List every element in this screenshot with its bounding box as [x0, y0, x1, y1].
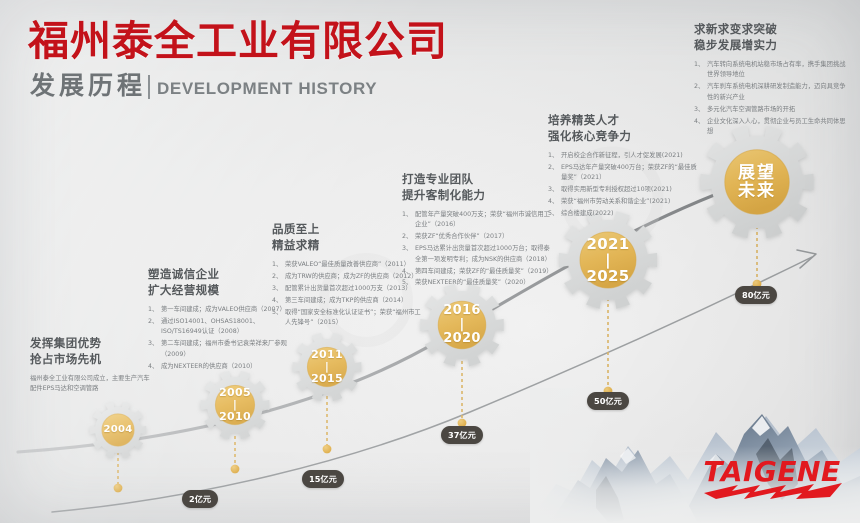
revenue-pill-m2021: 50亿元: [587, 392, 629, 410]
gear-m2004: [90, 402, 146, 458]
milestone-item: 取得实用新型专利授权超过10项(2021): [548, 185, 700, 195]
milestone-block-m2021: 培养精英人才 强化核心竞争力 开启校企合作新征程，引人才促发展(2021)EPS…: [548, 113, 700, 221]
subtitle-divider: [148, 75, 150, 99]
milestone-block-m2004: 发挥集团优势 抢占市场先机 福州泰全工业有限公司成立，主要生产汽车配件EPS马达…: [30, 336, 150, 395]
milestone-heading: 发挥集团优势 抢占市场先机: [30, 336, 150, 367]
revenue-pill-mfuture: 80亿元: [735, 286, 777, 304]
milestone-item: 配管累计出货量首次超过1000万支（2013）: [272, 284, 422, 294]
milestone-item: EPS马达累计出货量首次超过1000万台；取得泰全第一项发明专利；成为NSK的供…: [402, 244, 554, 265]
poster-header: 福州泰全工业有限公司 发展历程 DEVELOPMENT HISTORY: [28, 18, 448, 100]
milestone-item: 综合楼建成(2022): [548, 209, 700, 219]
milestone-item: 企业文化深入人心，贯彻企业与员工生命共同体思想: [694, 117, 846, 138]
milestone-item: 开启校企合作新征程，引人才促发展(2021): [548, 151, 700, 161]
milestone-heading: 塑造诚信企业 扩大经营规模: [148, 267, 288, 298]
milestone-item: 第一车间建成；成为VALEO供应商（2007）: [148, 305, 288, 315]
milestone-item: 汽车转向系统电机站稳市场占有率，携手集团挑战世界领导地位: [694, 60, 846, 81]
milestone-item: 荣获“福州市劳动关系和谐企业”(2021): [548, 197, 700, 207]
milestone-item-list: 第一车间建成；成为VALEO供应商（2007）通过ISO14001、OHSAS1…: [148, 305, 288, 372]
subtitle-en: DEVELOPMENT HISTORY: [157, 79, 377, 100]
milestone-item: 通过ISO14001、OHSAS18001、ISO/TS16949认证（2008…: [148, 317, 288, 338]
revenue-pill-m2011: 15亿元: [302, 470, 344, 488]
milestone-item-list: 汽车转向系统电机站稳市场占有率，携手集团挑战世界领导地位汽车刹车系统电机深耕研发…: [694, 60, 846, 137]
milestone-heading: 品质至上 精益求精: [272, 222, 422, 253]
milestone-item: 荣获ZF“优秀合作伙伴”（2017）: [402, 232, 554, 242]
milestone-item-list: 荣获VALEO“最佳质量改善供应商”（2011）成为TRW的供应商；成为ZF的供…: [272, 260, 422, 328]
milestone-item: 取得“国家安全标准化认证证书”；荣获“福州市工人先锋号”（2015）: [272, 308, 422, 329]
development-history-poster: 福州泰全工业有限公司 发展历程 DEVELOPMENT HISTORY: [0, 0, 860, 523]
milestone-item: 成为TRW的供应商；成为ZF的供应商（2012）: [272, 272, 422, 282]
milestone-item: 荣获NEXTEER的“最佳质量奖”（2020）: [402, 278, 554, 288]
gear-m2016: [420, 283, 503, 366]
milestone-item: 第四车间建成；荣获ZF的“最佳质量奖”（2019）: [402, 267, 554, 277]
milestone-item-list: 开启校企合作新征程，引人才促发展(2021)EPS马达年产量突破400万台；荣获…: [548, 151, 700, 219]
milestone-item: 荣获VALEO“最佳质量改善供应商”（2011）: [272, 260, 422, 270]
milestone-block-mfuture: 求新求变求突破 稳步发展增实力 汽车转向系统电机站稳市场占有率，携手集团挑战世界…: [694, 22, 846, 139]
milestone-paragraph: 福州泰全工业有限公司成立，主要生产汽车配件EPS马达和空调管路: [30, 374, 150, 395]
milestone-item: 汽车刹车系统电机深耕研发制造能力，迈向具竞争性的新兴产业: [694, 82, 846, 103]
revenue-pill-m2016: 37亿元: [441, 426, 483, 444]
milestone-block-m2011: 品质至上 精益求精 荣获VALEO“最佳质量改善供应商”（2011）成为TRW的…: [272, 222, 422, 330]
milestone-item: 多元化汽车空调管路市场的开拓: [694, 105, 846, 115]
subtitle-cn: 发展历程: [30, 72, 146, 100]
revenue-pill-m2005: 2亿元: [182, 490, 218, 508]
milestone-item: 配管年产量突破400万支；荣获“福州市诚信用工企业”（2016）: [402, 210, 554, 231]
milestone-item: 第三车间建成；成为TKP的供应商（2014）: [272, 296, 422, 306]
milestone-item: EPS马达年产量突破400万台；荣获ZF的“最佳质量奖”（2021）: [548, 163, 700, 184]
gear-m2005: [201, 371, 270, 439]
gear-mfuture: [701, 126, 814, 238]
milestone-block-m2005: 塑造诚信企业 扩大经营规模 第一车间建成；成为VALEO供应商（2007）通过I…: [148, 267, 288, 373]
logo-wordmark: TAIGENE: [703, 455, 840, 488]
milestone-block-m2016: 打造专业团队 提升客制化能力 配管年产量突破400万支；荣获“福州市诚信用工企业…: [402, 172, 554, 290]
company-title: 福州泰全工业有限公司: [28, 18, 448, 64]
milestone-heading: 打造专业团队 提升客制化能力: [402, 172, 554, 203]
milestone-heading: 培养精英人才 强化核心竞争力: [548, 113, 700, 144]
milestone-heading: 求新求变求突破 稳步发展增实力: [694, 22, 846, 53]
milestone-item-list: 配管年产量突破400万支；荣获“福州市诚信用工企业”（2016）荣获ZF“优秀合…: [402, 210, 554, 289]
milestone-item: 成为NEXTEER的供应商（2010）: [148, 362, 288, 372]
milestone-item: 第二车间建成；福州市委书记袁荣祥来厂参观（2009）: [148, 339, 288, 360]
taigene-logo: TAIGENE: [698, 447, 848, 505]
